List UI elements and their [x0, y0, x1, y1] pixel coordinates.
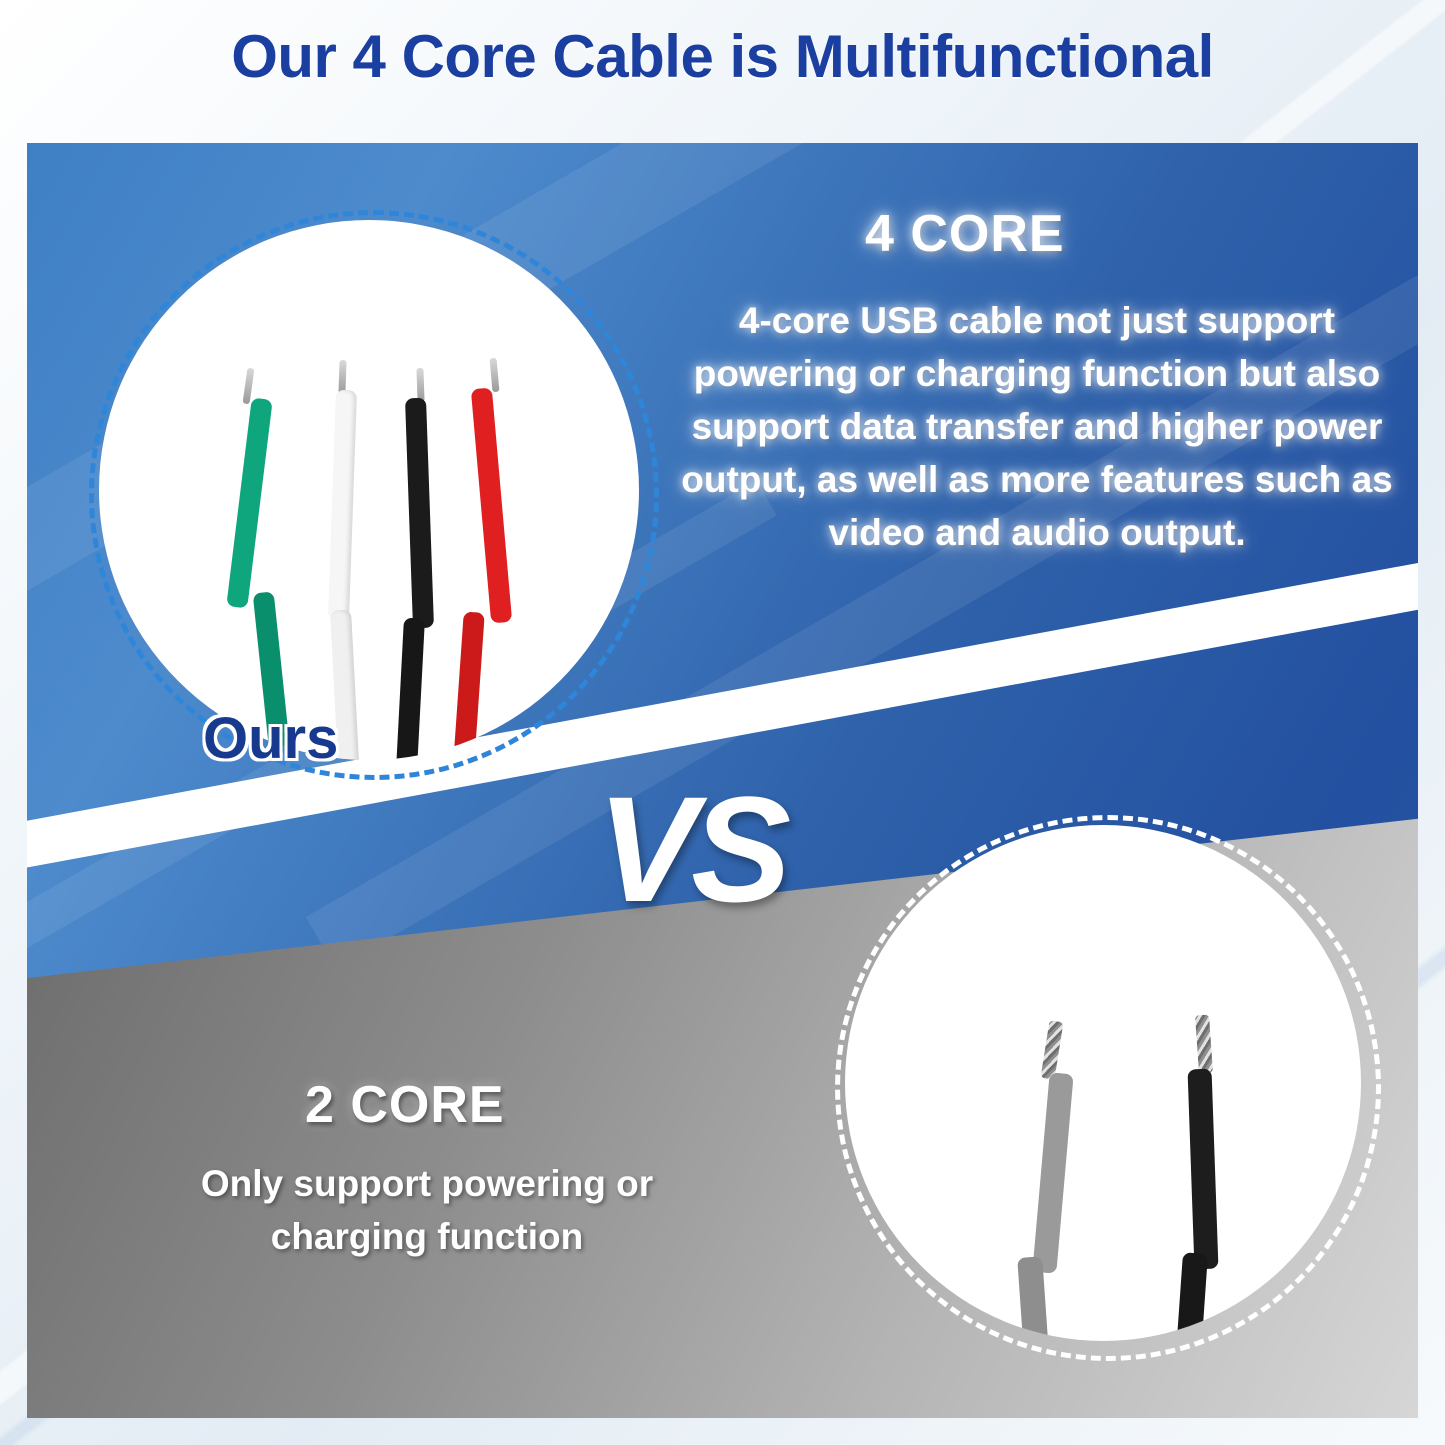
page-title: Our 4 Core Cable is Multifunctional [0, 22, 1445, 91]
comparison-panel: Ours 4 CORE 4-core USB cable not just su… [27, 143, 1418, 1418]
four-core-description: 4-core USB cable not just support poweri… [657, 295, 1417, 560]
two-core-description: Only support powering or charging functi… [147, 1158, 707, 1263]
promo-graphic: Our 4 Core Cable is Multifunctional [0, 0, 1445, 1445]
four-core-heading: 4 CORE [865, 204, 1065, 264]
two-core-heading: 2 CORE [305, 1075, 505, 1135]
vs-label: VS [597, 763, 785, 936]
dashed-circle-icon [89, 210, 659, 780]
ours-caption: Ours [203, 705, 338, 772]
dashed-circle-icon [835, 815, 1381, 1361]
